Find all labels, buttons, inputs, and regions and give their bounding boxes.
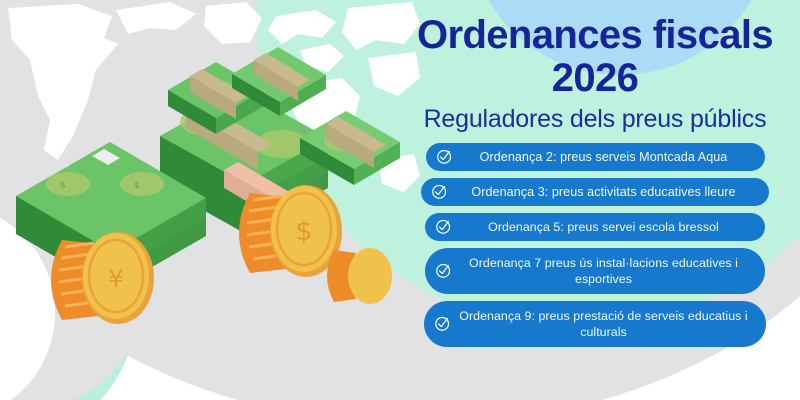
check-circle-icon [436, 148, 453, 165]
svg-text:$: $ [295, 216, 312, 247]
banknote-stack-center [160, 90, 328, 234]
background-arc-mint-left [0, 185, 135, 400]
gold-coin-partial [327, 248, 392, 304]
content-column: Ordenances fiscals 2026 Reguladores dels… [390, 0, 800, 400]
page-title: Ordenances fiscals 2026 [395, 14, 795, 100]
list-item-label: Ordenança 3: preus activitats educatives… [454, 184, 757, 201]
svg-text:¥: ¥ [108, 264, 124, 293]
banknote-bundle-top-right [232, 47, 326, 116]
gold-coin-yen: ¥ [51, 232, 154, 324]
check-circle-icon [435, 262, 452, 279]
list-item-label: Ordenança 2: preus serveis Montcada Aqua [459, 149, 753, 166]
banknote-row-left: $ $ [16, 142, 206, 290]
list-item-label: Ordenança 5: preus servei escola bressol [458, 219, 753, 235]
poster-canvas: $ $ $ [0, 0, 800, 400]
check-circle-icon [435, 218, 452, 235]
banknote-bundle-top-left [168, 62, 264, 134]
list-item-ordinance-3[interactable]: Ordenança 3: preus activitats educatives… [421, 178, 769, 206]
list-item-ordinance-9[interactable]: Ordenança 9: preus prestació de serveis … [424, 301, 766, 347]
green-arrow [248, 196, 310, 252]
svg-text:$: $ [60, 181, 66, 191]
list-item-ordinance-7[interactable]: Ordenança 7 preus ús instal·lacions educ… [425, 248, 765, 294]
list-item-label: Ordenança 9: preus prestació de serveis … [457, 308, 754, 341]
list-item-label: Ordenança 7 preus ús instal·lacions educ… [458, 255, 753, 288]
list-item-ordinance-2[interactable]: Ordenança 2: preus serveis Montcada Aqua [426, 143, 765, 171]
gold-coin-dollar: $ [239, 185, 342, 277]
page-title-line-1: Ordenances fiscals [417, 13, 773, 57]
background-arc-grey-left [0, 170, 145, 400]
banknote-bundle-right [300, 111, 400, 185]
money-illustration: $ $ $ [10, 18, 410, 348]
page-subtitle: Reguladores dels preus públics [395, 106, 795, 134]
check-circle-icon [431, 183, 448, 200]
svg-text:$: $ [134, 181, 140, 191]
background-arc-white-left [0, 205, 55, 400]
list-item-ordinance-5[interactable]: Ordenança 5: preus servei escola bressol [425, 213, 765, 241]
check-circle-icon [434, 315, 451, 332]
world-map-graphic [0, 0, 420, 260]
page-title-line-2: 2026 [552, 56, 639, 100]
ordinance-list: Ordenança 2: preus serveis Montcada Aqua… [390, 143, 800, 354]
